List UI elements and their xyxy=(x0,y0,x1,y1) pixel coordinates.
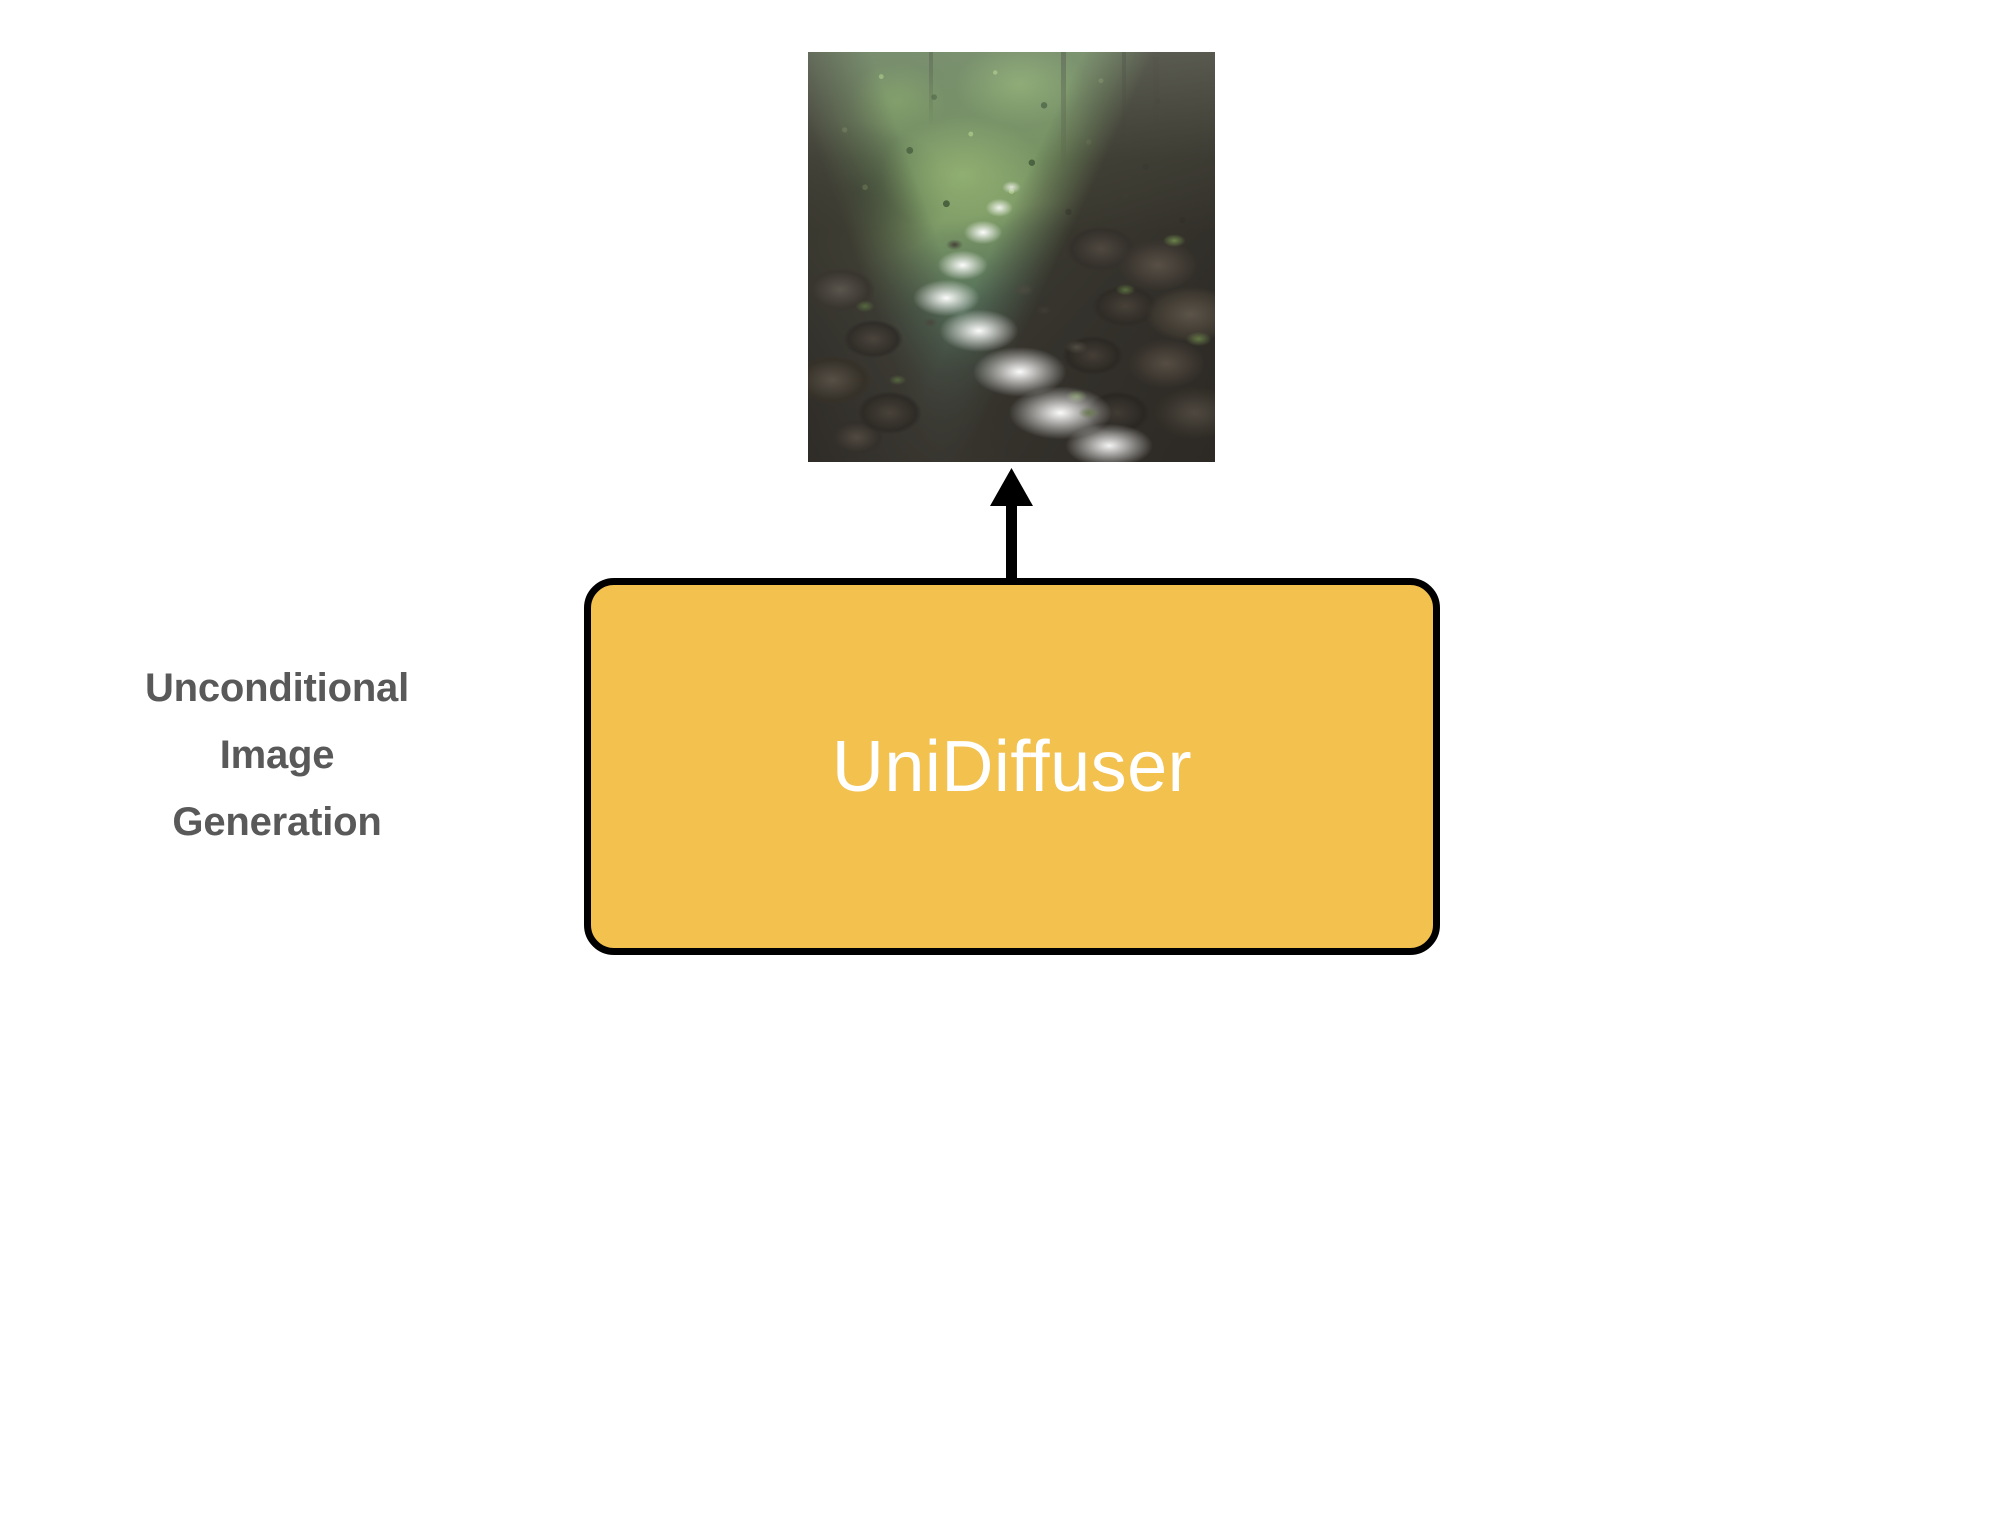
model-box-label: UniDiffuser xyxy=(832,731,1192,803)
task-label: Unconditional Image Generation xyxy=(77,655,477,856)
unidiffuser-model-box[interactable]: UniDiffuser xyxy=(584,578,1440,955)
up-arrow-icon xyxy=(975,462,1051,586)
task-label-line-2: Image xyxy=(77,722,477,789)
figure-canvas: UniDiffuser Unconditional Image Generati… xyxy=(0,0,2014,1536)
task-label-line-3: Generation xyxy=(77,789,477,856)
generated-image xyxy=(808,52,1215,462)
task-label-line-1: Unconditional xyxy=(77,655,477,722)
atmospheric-haze-layer xyxy=(808,52,1215,462)
